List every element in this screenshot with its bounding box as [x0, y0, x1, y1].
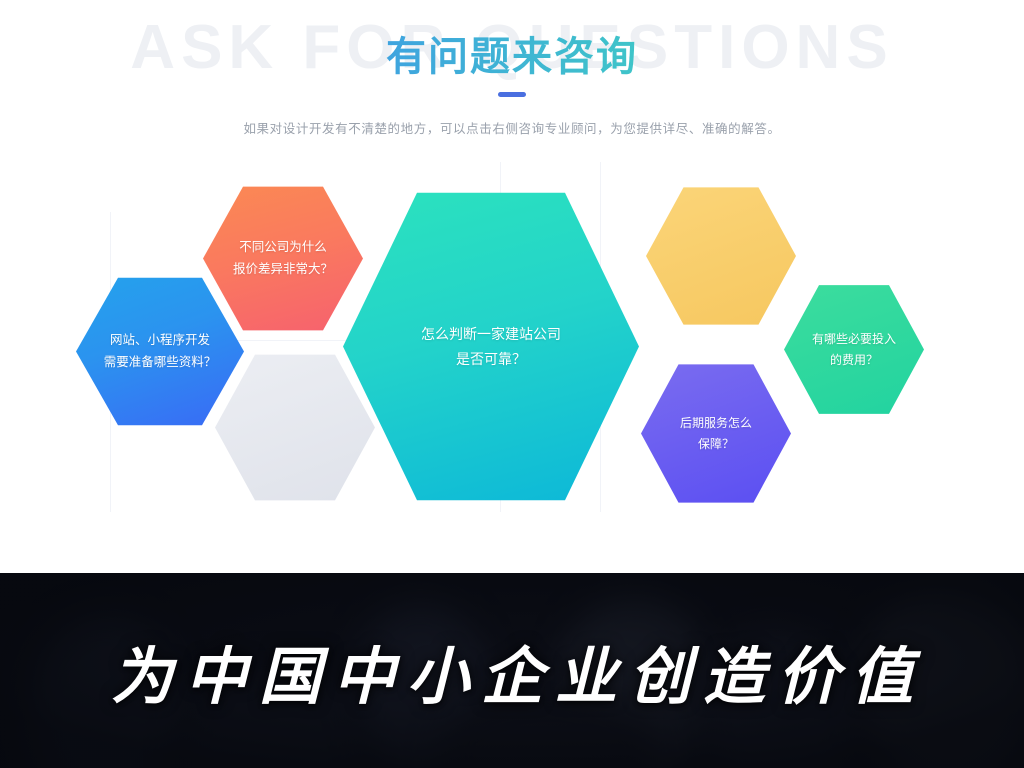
hexagon-line-1: 怎么判断一家建站公司	[421, 322, 561, 347]
faq-hexagon-after-sales-service[interactable]: 后期服务怎么 保障？	[641, 360, 791, 507]
faq-section: ASK FOR QUESTIONS 有问题来咨询 如果对设计开发有不清楚的地方，…	[0, 0, 1024, 573]
faq-hexagon-website-materials[interactable]: 网站、小程序开发 需要准备哪些资料？	[76, 273, 244, 430]
faq-hexagon-required-costs[interactable]: 有哪些必要投入 的费用？	[784, 281, 924, 418]
value-slogan-banner: 为中国中小企业创造价值	[0, 573, 1024, 768]
faq-header: ASK FOR QUESTIONS 有问题来咨询 如果对设计开发有不清楚的地方，…	[0, 0, 1024, 150]
hexagon-line-2: 报价差异非常大？	[233, 259, 333, 281]
banner-slogan-text: 为中国中小企业创造价值	[0, 573, 1024, 768]
faq-hexagon-price-difference[interactable]: 不同公司为什么 报价差异非常大？	[203, 182, 363, 335]
hexagon-line-1: 有哪些必要投入	[812, 329, 896, 350]
hexagon-line-1: 网站、小程序开发	[110, 330, 210, 352]
hexagon-line-1: 不同公司为什么	[239, 237, 327, 259]
hexagon-line-2: 的费用？	[830, 350, 878, 371]
decorative-hexagon-yellow	[646, 183, 796, 329]
hexagon-line-1: 后期服务怎么	[680, 413, 752, 434]
title-underline-divider	[498, 92, 526, 97]
hexagon-line-2: 是否可靠？	[456, 347, 526, 372]
page-title: 有问题来咨询	[0, 24, 1024, 82]
faq-hexagon-company-reliability[interactable]: 怎么判断一家建站公司 是否可靠？	[343, 183, 639, 510]
hexagon-board: 网站、小程序开发 需要准备哪些资料？ 不同公司为什么 报价差异非常大？ 怎么判断…	[0, 150, 1024, 573]
hexagon-line-2: 保障？	[698, 434, 734, 455]
hexagon-line-2: 需要准备哪些资料？	[104, 352, 217, 374]
page-subtitle: 如果对设计开发有不清楚的地方，可以点击右侧咨询专业顾问，为您提供详尽、准确的解答…	[0, 118, 1024, 137]
decorative-hexagon-gray	[215, 350, 375, 505]
